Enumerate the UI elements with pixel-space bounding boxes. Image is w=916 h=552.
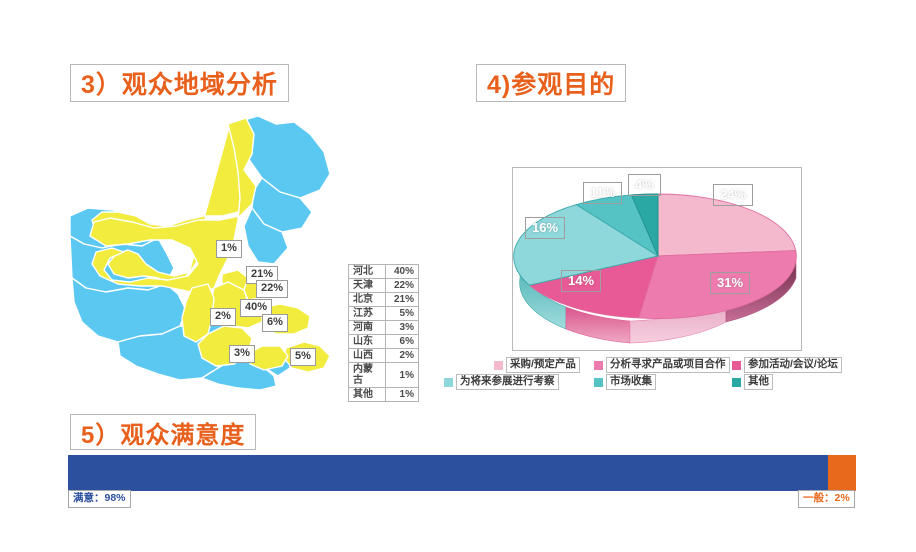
region-value: 40% <box>386 265 419 279</box>
table-row: 山东 6% <box>349 335 419 349</box>
legend-item-analysis[interactable]: 分析寻求产品或项目合作 <box>594 357 730 373</box>
region-value: 6% <box>386 335 419 349</box>
legend-label-events: 参加活动/会议/论坛 <box>744 357 842 373</box>
table-row: 河北 40% <box>349 265 419 279</box>
legend-item-purchase[interactable]: 采购/预定产品 <box>494 357 580 373</box>
table-row: 江苏 5% <box>349 307 419 321</box>
region-name: 内蒙古 <box>349 363 386 388</box>
satisfaction-label-average: 一般：2% <box>798 490 855 508</box>
pie-label-16: 16% <box>525 217 565 239</box>
region-value: 22% <box>386 279 419 293</box>
table-row: 内蒙古 1% <box>349 363 419 388</box>
legend-swatch-future-exhibit <box>444 378 453 387</box>
map-label-5pct: 5% <box>290 348 316 366</box>
table-row: 天津 22% <box>349 279 419 293</box>
region-value: 1% <box>386 363 419 388</box>
pie-label-11: 11% <box>583 182 622 204</box>
legend-swatch-market-research <box>594 378 603 387</box>
region-value: 21% <box>386 293 419 307</box>
pie-label-31: 31% <box>710 272 750 294</box>
region-distribution-table: 河北 40% 天津 22% 北京 21% 江苏 5% 河南 3% 山东 6% <box>348 264 419 402</box>
region-name: 北京 <box>349 293 386 307</box>
pie-label-24: 24% <box>713 184 753 206</box>
table-row: 河南 3% <box>349 321 419 335</box>
legend-item-other[interactable]: 其他 <box>732 374 773 390</box>
region-value: 5% <box>386 307 419 321</box>
legend-item-events[interactable]: 参加活动/会议/论坛 <box>732 357 842 373</box>
satisfaction-label-satisfied: 满意：98% <box>68 490 131 508</box>
legend-label-purchase: 采购/预定产品 <box>506 357 580 373</box>
section-title-purpose: 4)参观目的 <box>476 64 626 102</box>
map-label-2pct: 2% <box>210 308 236 326</box>
map-label-3pct: 3% <box>229 345 255 363</box>
map-label-22pct: 22% <box>256 280 288 298</box>
satisfaction-segment-average <box>828 455 856 491</box>
legend-swatch-other <box>732 378 741 387</box>
section-title-satisfaction: 5）观众满意度 <box>70 414 256 450</box>
region-name: 天津 <box>349 279 386 293</box>
satisfaction-segment-satisfied <box>68 455 828 491</box>
legend-label-market-research: 市场收集 <box>606 374 656 390</box>
pie-label-14: 14% <box>561 270 601 292</box>
legend-swatch-events <box>732 361 741 370</box>
table-row: 北京 21% <box>349 293 419 307</box>
section-title-region: 3）观众地域分析 <box>70 64 289 102</box>
pie-label-4: 4% <box>628 174 661 196</box>
region-value: 3% <box>386 321 419 335</box>
slide-canvas: 3）观众地域分析 <box>0 0 916 552</box>
legend-swatch-analysis <box>594 361 603 370</box>
region-name: 山东 <box>349 335 386 349</box>
map-label-1pct: 1% <box>216 240 242 258</box>
satisfaction-bar-chart <box>68 455 856 491</box>
region-value: 1% <box>386 388 419 402</box>
region-name: 河北 <box>349 265 386 279</box>
pie-chart-legend: 采购/预定产品 分析寻求产品或项目合作 参加活动/会议/论坛 为将来参展进行考察… <box>444 357 864 391</box>
region-name: 河南 <box>349 321 386 335</box>
region-value: 2% <box>386 349 419 363</box>
map-label-6pct: 6% <box>262 314 288 332</box>
legend-label-other: 其他 <box>744 374 773 390</box>
table-row: 山西 2% <box>349 349 419 363</box>
table-row: 其他 1% <box>349 388 419 402</box>
region-name: 其他 <box>349 388 386 402</box>
legend-item-future-exhibit[interactable]: 为将来参展进行考察 <box>444 374 559 390</box>
legend-swatch-purchase <box>494 361 503 370</box>
legend-item-market-research[interactable]: 市场收集 <box>594 374 656 390</box>
legend-label-future-exhibit: 为将来参展进行考察 <box>456 374 559 390</box>
region-name: 山西 <box>349 349 386 363</box>
legend-label-analysis: 分析寻求产品或项目合作 <box>606 357 730 373</box>
region-name: 江苏 <box>349 307 386 321</box>
